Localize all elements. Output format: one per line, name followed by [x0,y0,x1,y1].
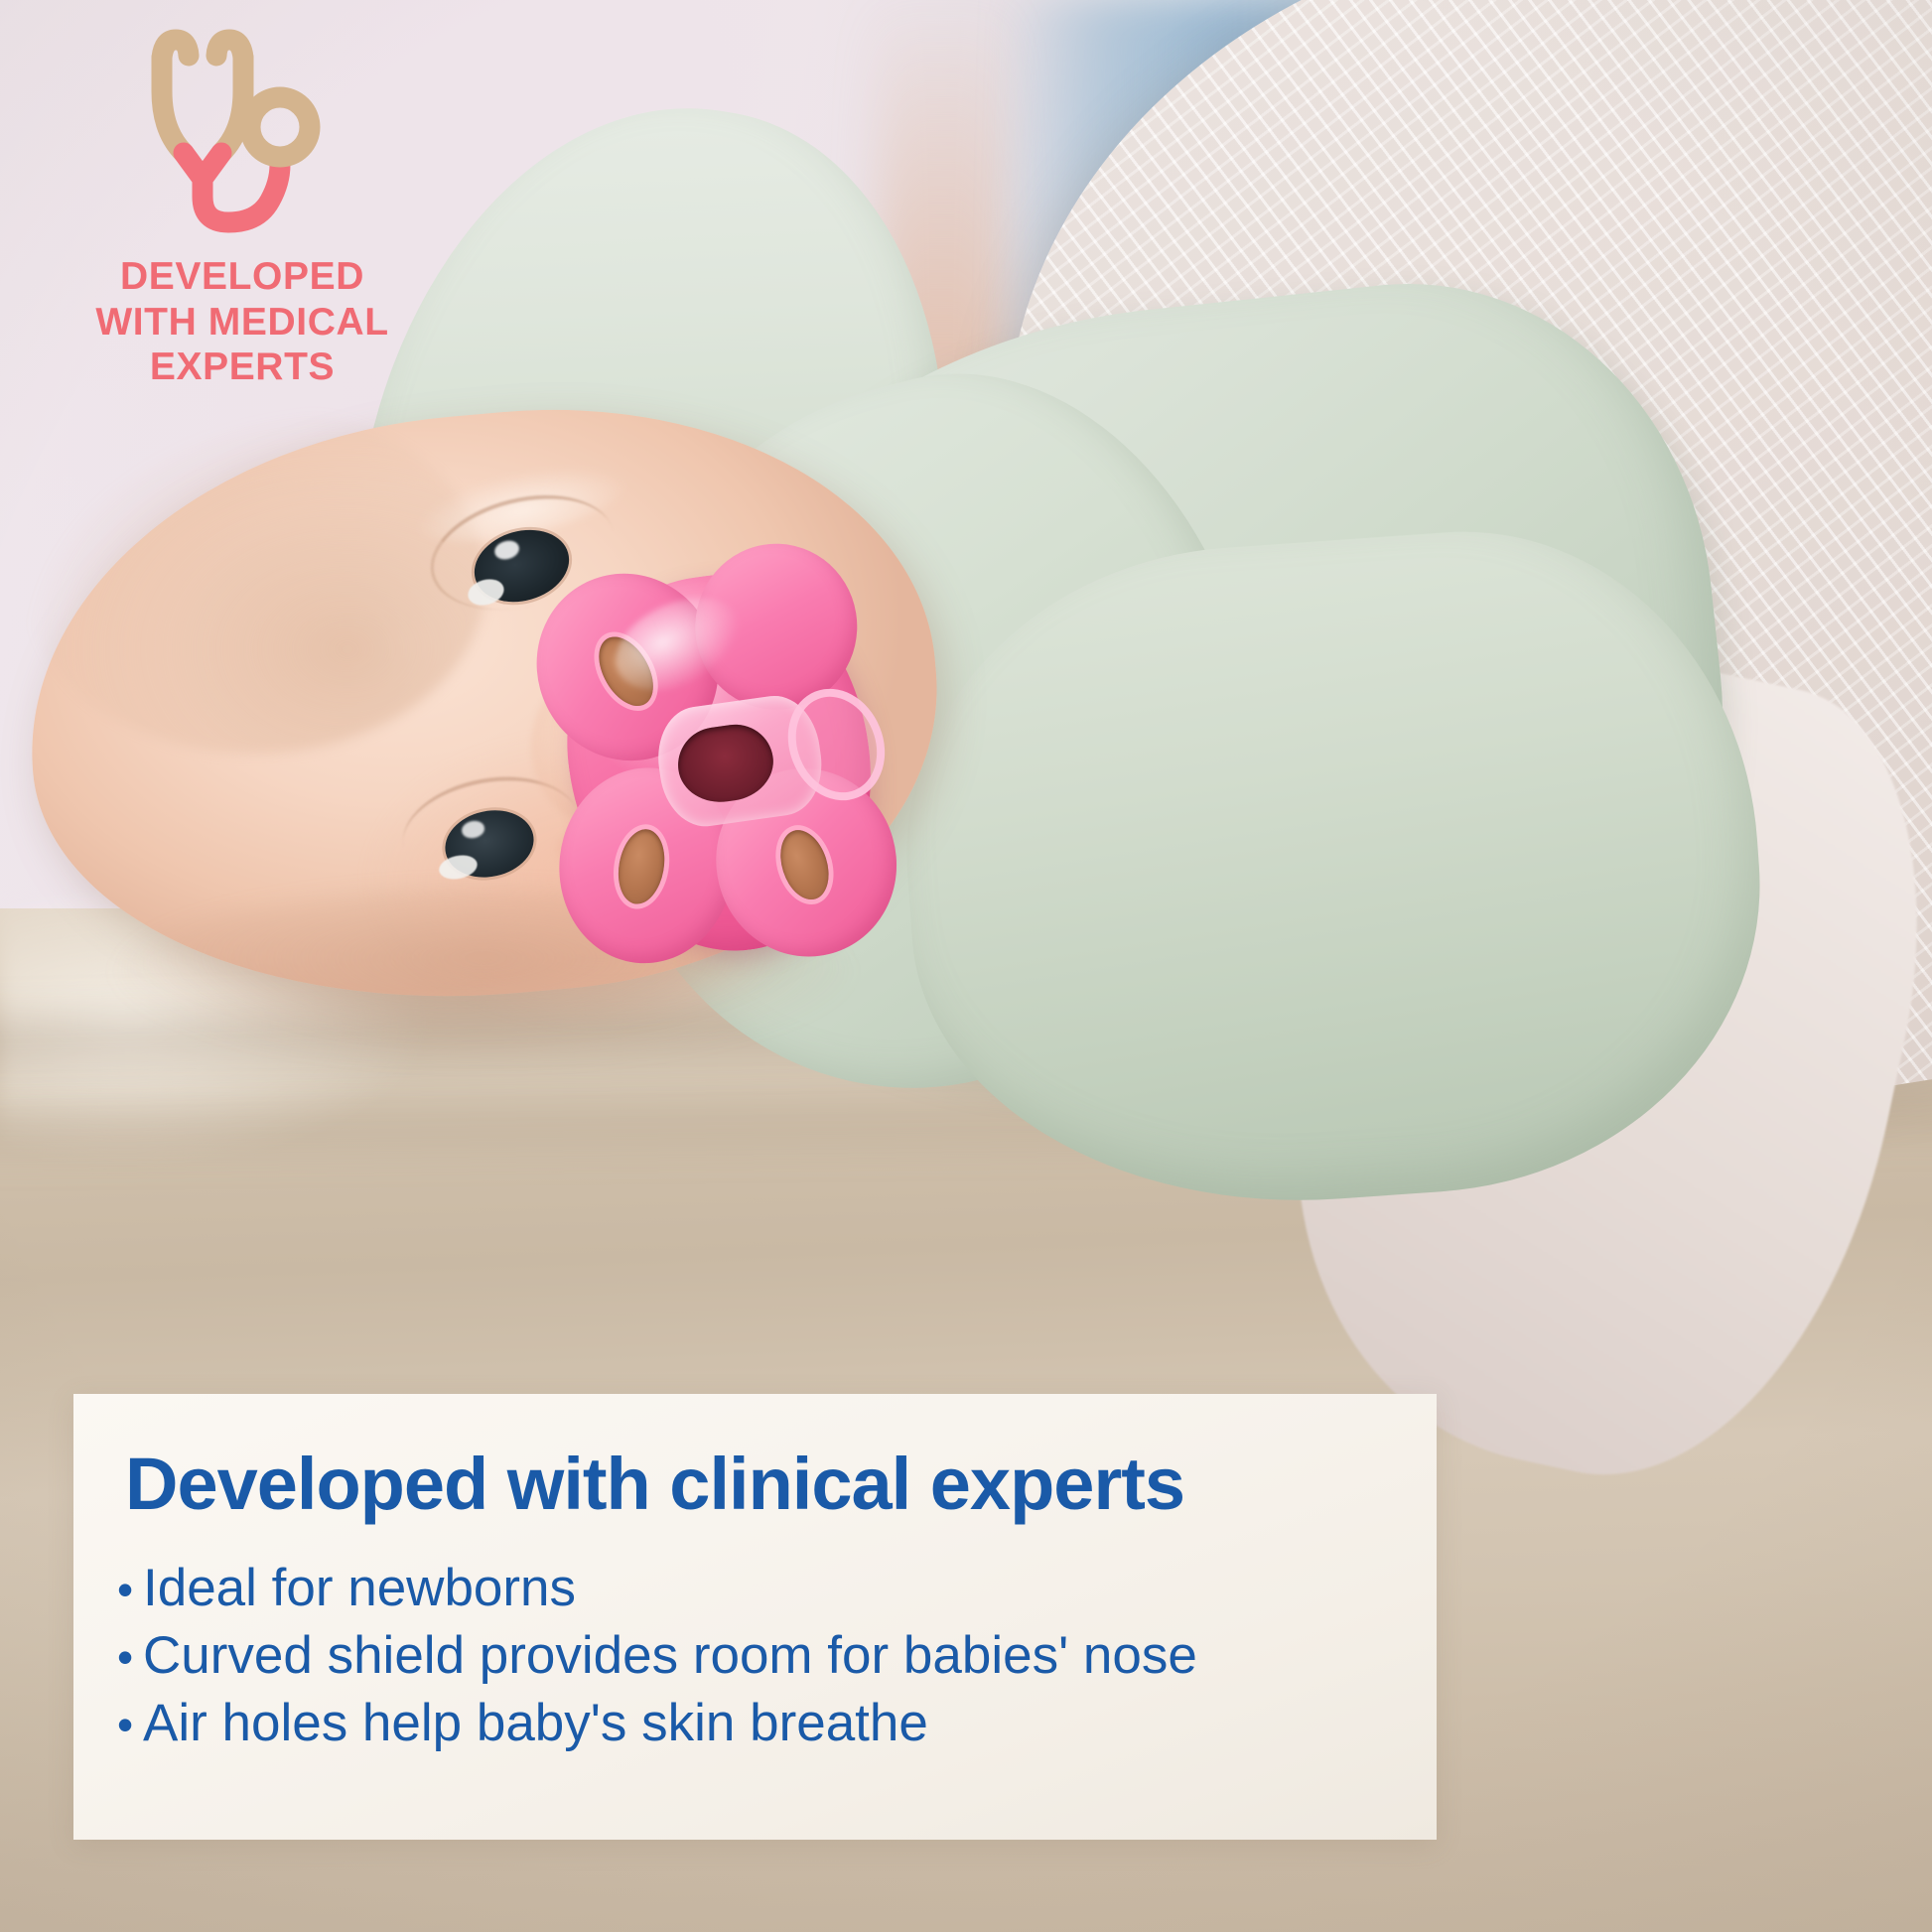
bullet-marker-icon: • [117,1702,143,1747]
list-item-label: Air holes help baby's skin breathe [143,1690,928,1757]
stethoscope-icon [128,22,356,238]
infographic-canvas: DEVELOPED WITH MEDICAL EXPERTS Developed… [0,0,1932,1932]
badge-line-3: EXPERTS [73,345,411,390]
badge-text: DEVELOPED WITH MEDICAL EXPERTS [73,254,411,390]
badge-line-1: DEVELOPED [73,254,411,300]
list-item-label: Ideal for newborns [143,1555,576,1622]
badge-line-2: WITH MEDICAL [73,300,411,345]
list-item-label: Curved shield provides room for babies' … [143,1622,1197,1690]
feature-list: • Ideal for newborns • Curved shield pro… [117,1555,1387,1756]
panel-title: Developed with clinical experts [125,1448,1387,1521]
medical-experts-badge: DEVELOPED WITH MEDICAL EXPERTS [73,22,411,390]
list-item: • Air holes help baby's skin breathe [117,1690,1387,1757]
list-item: • Ideal for newborns [117,1555,1387,1622]
bullet-marker-icon: • [117,1634,143,1680]
feature-panel: Developed with clinical experts • Ideal … [73,1394,1437,1840]
bullet-marker-icon: • [117,1567,143,1612]
baby-hairline [23,406,486,754]
list-item: • Curved shield provides room for babies… [117,1622,1387,1690]
pacifier [545,557,895,972]
